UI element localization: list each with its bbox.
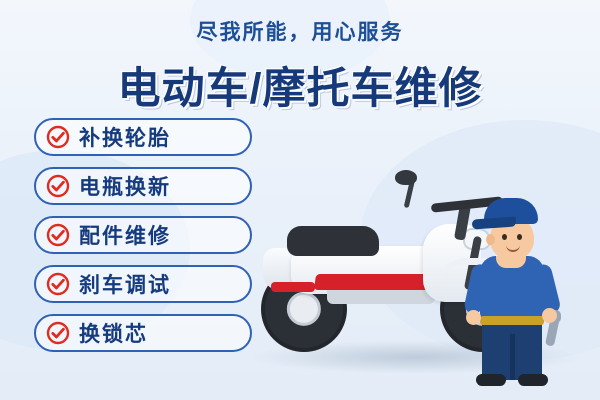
feature-item-brake: 刹车调试: [34, 265, 252, 303]
feature-item-tire: 补换轮胎: [34, 118, 252, 156]
feature-label: 刹车调试: [79, 269, 171, 299]
tool-belt: [480, 316, 544, 325]
poster-subtitle: 尽我所能，用心服务: [0, 16, 600, 46]
right-shoe: [518, 374, 548, 386]
mirror-icon: [395, 170, 417, 185]
left-shoe: [476, 374, 506, 386]
feature-label: 电瓶换新: [79, 171, 171, 201]
red-side-stripe: [314, 274, 434, 290]
check-circle-icon: [46, 174, 70, 198]
check-circle-icon: [46, 321, 70, 345]
wheel-hub: [287, 292, 321, 326]
check-circle-icon: [46, 223, 70, 247]
left-hand: [466, 310, 481, 325]
feature-item-battery: 电瓶换新: [34, 167, 252, 205]
feature-label: 配件维修: [79, 220, 171, 250]
red-rear-accent: [271, 282, 315, 292]
feature-label: 换锁芯: [79, 318, 148, 348]
right-hand: [542, 308, 557, 323]
check-circle-icon: [46, 125, 70, 149]
ear: [486, 234, 495, 245]
check-circle-icon: [46, 272, 70, 296]
right-eye: [517, 234, 522, 240]
promo-poster: 尽我所能，用心服务 电动车/摩托车维修 补换轮胎 电瓶换新: [0, 0, 600, 400]
leg-divider: [510, 334, 515, 380]
feature-item-lock: 换锁芯: [34, 314, 252, 352]
feature-list: 补换轮胎 电瓶换新 配件维修: [34, 118, 274, 363]
feature-label: 补换轮胎: [79, 122, 171, 152]
left-eye: [502, 234, 507, 240]
poster-headline: 电动车/摩托车维修: [0, 54, 600, 116]
feature-item-parts: 配件维修: [34, 216, 252, 254]
scooter-seat: [287, 226, 379, 256]
technician-illustration: [462, 198, 580, 386]
